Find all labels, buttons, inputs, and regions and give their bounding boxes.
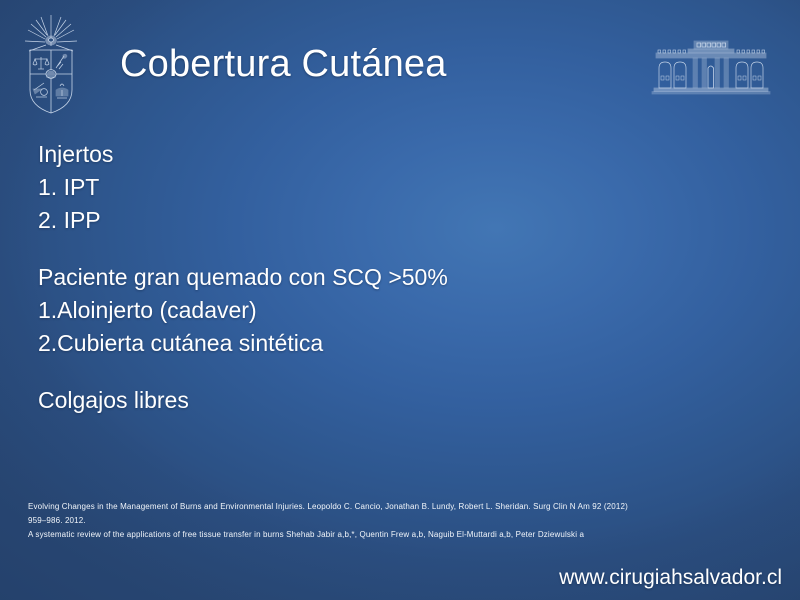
content-block-colgajos: Colgajos libres [38, 384, 638, 417]
page-title: Cobertura Cutánea [120, 43, 447, 86]
content-line: Colgajos libres [38, 384, 638, 417]
content-block-gran-quemado: Paciente gran quemado con SCQ >50% 1.Alo… [38, 261, 638, 360]
slide-header: Cobertura Cutánea [0, 0, 800, 122]
content-block-injertos: Injertos 1. IPT 2. IPP [38, 138, 638, 237]
website-url: www.cirugiahsalvador.cl [559, 566, 782, 590]
footnote-line: 959–986. 2012. [28, 514, 778, 528]
content-line: Paciente gran quemado con SCQ >50% [38, 261, 638, 294]
content-line: 1.Aloinjerto (cadaver) [38, 294, 638, 327]
content-line: Injertos [38, 138, 638, 171]
slide-body: Injertos 1. IPT 2. IPP Paciente gran que… [38, 138, 638, 417]
footnote-references: Evolving Changes in the Management of Bu… [28, 500, 778, 542]
footnote-line: A systematic review of the applications … [28, 528, 778, 542]
footnote-line: Evolving Changes in the Management of Bu… [28, 500, 778, 514]
universidad-de-chile-crest-icon [20, 12, 82, 116]
casa-central-building-icon [650, 38, 772, 100]
presentation-slide: Cobertura Cutánea [0, 0, 800, 600]
content-line: 2.Cubierta cutánea sintética [38, 327, 638, 360]
content-line: 2. IPP [38, 204, 638, 237]
content-line: 1. IPT [38, 171, 638, 204]
